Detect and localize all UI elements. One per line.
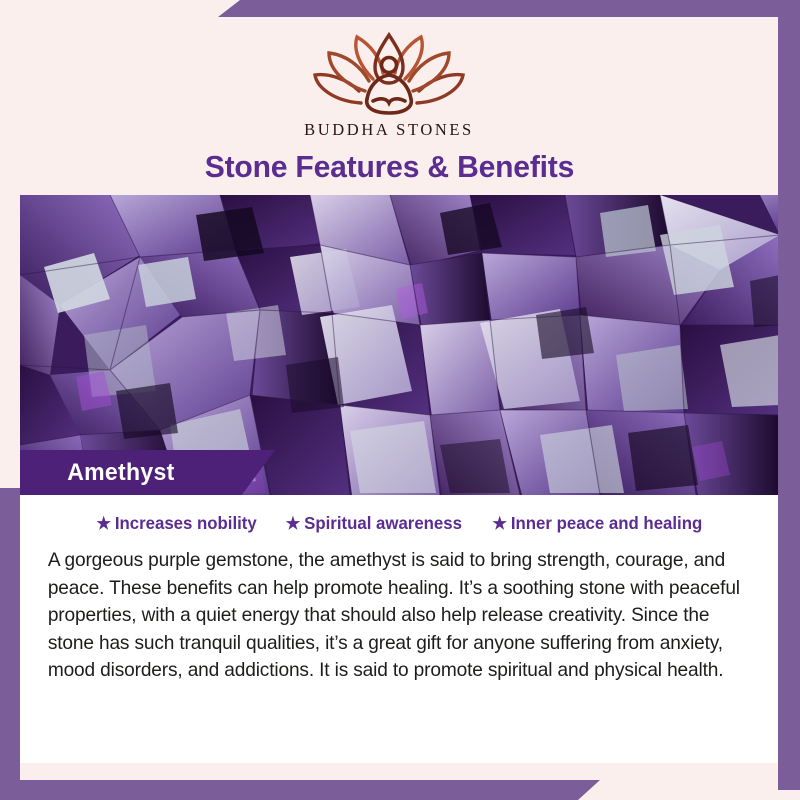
stone-name-banner: Amethyst bbox=[20, 450, 275, 495]
benefit-item: ★ Inner peace and healing bbox=[492, 513, 702, 534]
benefit-label: Spiritual awareness bbox=[305, 513, 463, 534]
star-icon: ★ bbox=[492, 515, 507, 532]
brand-logo: BUDDHA STONES bbox=[303, 25, 475, 140]
stone-description: A gorgeous purple gemstone, the amethyst… bbox=[36, 547, 753, 685]
frame-left-bar bbox=[0, 488, 20, 800]
benefit-item: ★ Spiritual awareness bbox=[286, 513, 462, 534]
brand-name: BUDDHA STONES bbox=[304, 120, 474, 140]
page-title: Stone Features & Benefits bbox=[204, 149, 573, 185]
benefit-label: Inner peace and healing bbox=[511, 513, 702, 534]
stone-name-label: Amethyst bbox=[67, 459, 174, 487]
frame-right-bar bbox=[778, 0, 800, 790]
star-icon: ★ bbox=[286, 515, 301, 532]
page-header: BUDDHA STONES Stone Features & Benefits bbox=[0, 17, 778, 195]
benefits-list: ★ Increases nobility ★ Spiritual awarene… bbox=[36, 513, 764, 534]
benefit-label: Increases nobility bbox=[115, 513, 257, 534]
frame-bottom-bar bbox=[0, 780, 600, 800]
lotus-meditation-logo-icon bbox=[303, 25, 475, 117]
frame-top-bar bbox=[218, 0, 800, 17]
star-icon: ★ bbox=[97, 515, 112, 532]
benefit-item: ★ Increases nobility bbox=[97, 513, 257, 534]
stone-content-panel: ★ Increases nobility ★ Spiritual awarene… bbox=[20, 495, 780, 763]
